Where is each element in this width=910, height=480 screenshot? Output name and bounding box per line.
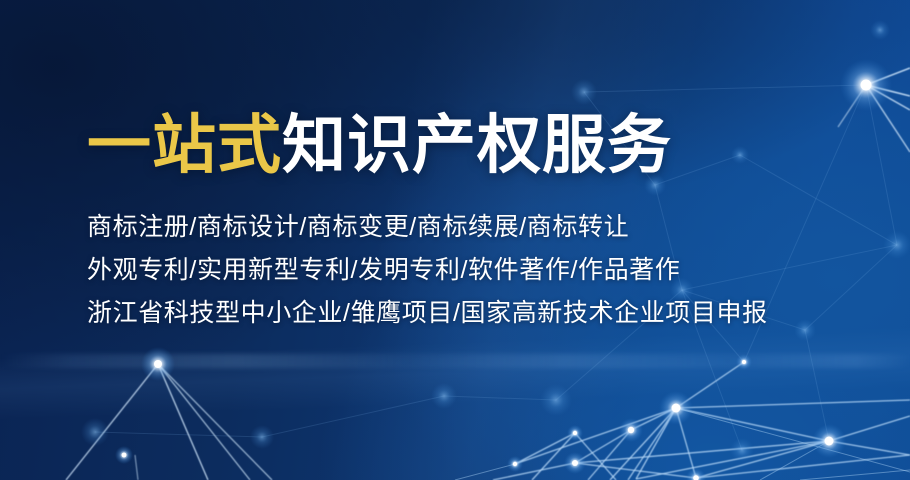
headline-highlight: 一站式 <box>87 109 282 181</box>
page-title: 一站式知识产权服务 <box>87 108 867 182</box>
headline-rest: 知识产权服务 <box>282 109 672 181</box>
service-line-list: 商标注册/商标设计/商标变更/商标续展/商标转让 外观专利/实用新型专利/发明专… <box>87 206 867 335</box>
banner-content: 一站式知识产权服务 商标注册/商标设计/商标变更/商标续展/商标转让 外观专利/… <box>87 108 867 335</box>
service-line-programs: 浙江省科技型中小企业/雏鹰项目/国家高新技术企业项目申报 <box>87 292 867 335</box>
hero-banner: 一站式知识产权服务 商标注册/商标设计/商标变更/商标续展/商标转让 外观专利/… <box>0 0 910 480</box>
service-line-trademark: 商标注册/商标设计/商标变更/商标续展/商标转让 <box>87 206 867 249</box>
service-line-patent: 外观专利/实用新型专利/发明专利/软件著作/作品著作 <box>87 249 867 292</box>
